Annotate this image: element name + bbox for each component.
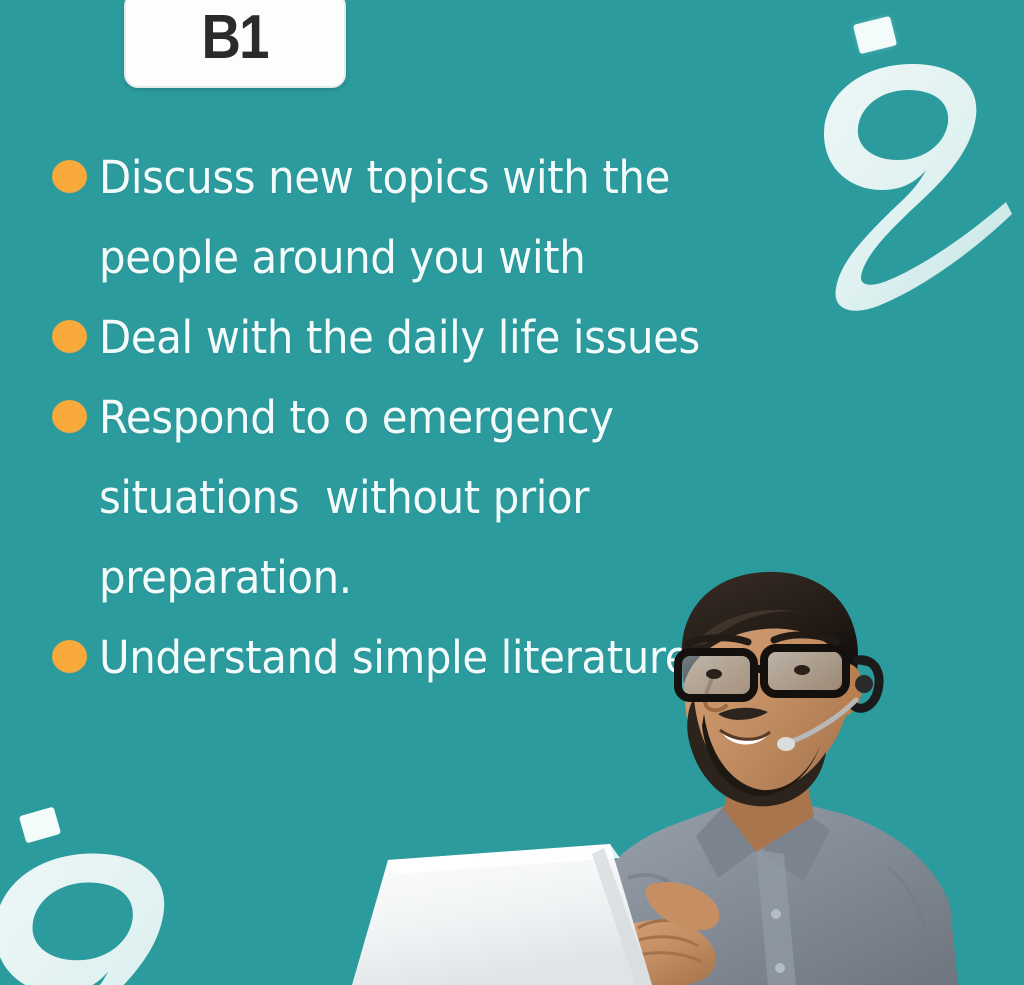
list-item-label: Understand simple literature. — [99, 618, 706, 698]
bullet-dot-icon — [52, 320, 87, 353]
list-item-label: Deal with the daily life issues — [99, 298, 706, 378]
bullet-dot-icon — [52, 400, 87, 433]
arabic-letter-dot-icon — [853, 16, 897, 54]
objectives-list: Discuss new topics with the people aroun… — [52, 138, 752, 698]
bullet-dot-icon — [52, 160, 87, 193]
arabic-letter-ain-icon — [0, 838, 226, 985]
slide-root: B1 Discuss new topics with the people ar… — [0, 0, 1024, 985]
headset-icon — [777, 660, 879, 751]
list-item: Deal with the daily life issues — [52, 298, 752, 378]
level-badge-label: B1 — [202, 7, 268, 73]
presenter-hands — [587, 882, 719, 985]
level-badge: B1 — [124, 0, 346, 88]
list-item-label: Discuss new topics with the people aroun… — [99, 138, 706, 298]
bullet-dot-icon — [52, 640, 87, 673]
presenter-shirt — [588, 800, 958, 985]
list-item-label: Respond to o emergency situations withou… — [99, 378, 706, 618]
arabic-letter-ain-icon — [800, 50, 1024, 320]
list-item: Respond to o emergency situations withou… — [52, 378, 752, 618]
list-item: Discuss new topics with the people aroun… — [52, 138, 752, 298]
laptop — [352, 844, 652, 985]
arabic-letter-dot-icon — [19, 807, 61, 844]
list-item: Understand simple literature. — [52, 618, 752, 698]
